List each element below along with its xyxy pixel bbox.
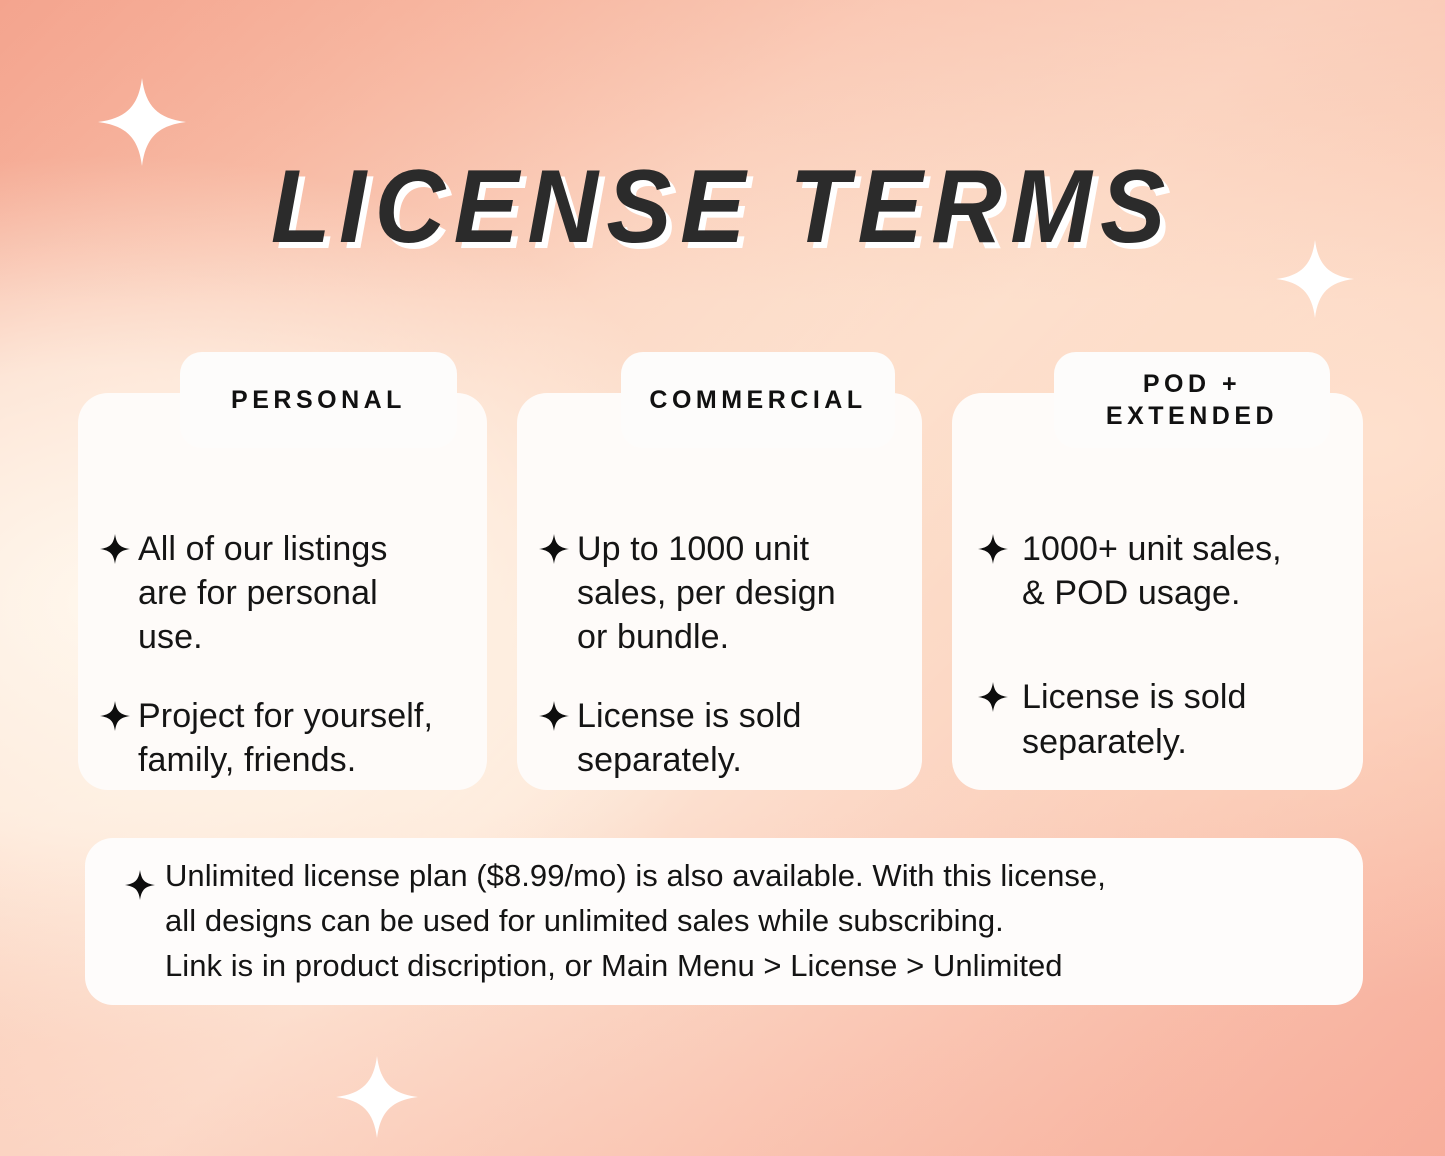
four-point-star-icon bbox=[539, 534, 569, 564]
list-item-text: License is sold separately. bbox=[577, 694, 802, 782]
four-point-star-icon bbox=[978, 534, 1008, 564]
list-item-text: Project for yourself, family, friends. bbox=[138, 694, 433, 782]
license-card-pod-extended-header: POD + EXTENDED bbox=[1054, 352, 1330, 448]
four-point-star-icon bbox=[978, 682, 1008, 712]
list-item: Project for yourself, family, friends. bbox=[100, 694, 473, 782]
list-item: 1000+ unit sales, & POD usage. bbox=[978, 527, 1349, 615]
four-point-star-icon bbox=[100, 534, 130, 564]
list-item: License is sold separately. bbox=[978, 675, 1349, 763]
license-cards-row: All of our listings are for personal use… bbox=[78, 352, 1363, 790]
four-point-star-icon bbox=[539, 701, 569, 731]
list-item: License is sold separately. bbox=[539, 694, 908, 782]
license-card-pod-extended-body: 1000+ unit sales, & POD usage. License i… bbox=[952, 527, 1363, 764]
page-title-container: LICENSE TERMS bbox=[0, 148, 1445, 267]
license-card-pod-extended: 1000+ unit sales, & POD usage. License i… bbox=[952, 393, 1363, 790]
license-card-commercial-header: COMMERCIAL bbox=[621, 352, 895, 448]
list-item: All of our listings are for personal use… bbox=[100, 527, 473, 660]
unlimited-plan-banner: Unlimited license plan ($8.99/mo) is als… bbox=[85, 838, 1363, 1005]
license-card-personal-body: All of our listings are for personal use… bbox=[78, 527, 487, 782]
list-item-text: License is sold separately. bbox=[1022, 675, 1247, 763]
four-point-star-icon bbox=[100, 701, 130, 731]
list-item-text: 1000+ unit sales, & POD usage. bbox=[1022, 527, 1282, 615]
list-item: Up to 1000 unit sales, per design or bun… bbox=[539, 527, 908, 660]
list-item-text: Up to 1000 unit sales, per design or bun… bbox=[577, 527, 836, 660]
license-card-commercial-body: Up to 1000 unit sales, per design or bun… bbox=[517, 527, 922, 782]
license-card-commercial: Up to 1000 unit sales, per design or bun… bbox=[517, 393, 922, 790]
list-item-text: All of our listings are for personal use… bbox=[138, 527, 387, 660]
four-point-star-icon bbox=[125, 870, 155, 900]
page-title: LICENSE TERMS bbox=[271, 148, 1174, 267]
unlimited-plan-banner-text: Unlimited license plan ($8.99/mo) is als… bbox=[165, 854, 1106, 989]
license-card-personal-header: PERSONAL bbox=[180, 352, 457, 448]
license-card-personal: All of our listings are for personal use… bbox=[78, 393, 487, 790]
